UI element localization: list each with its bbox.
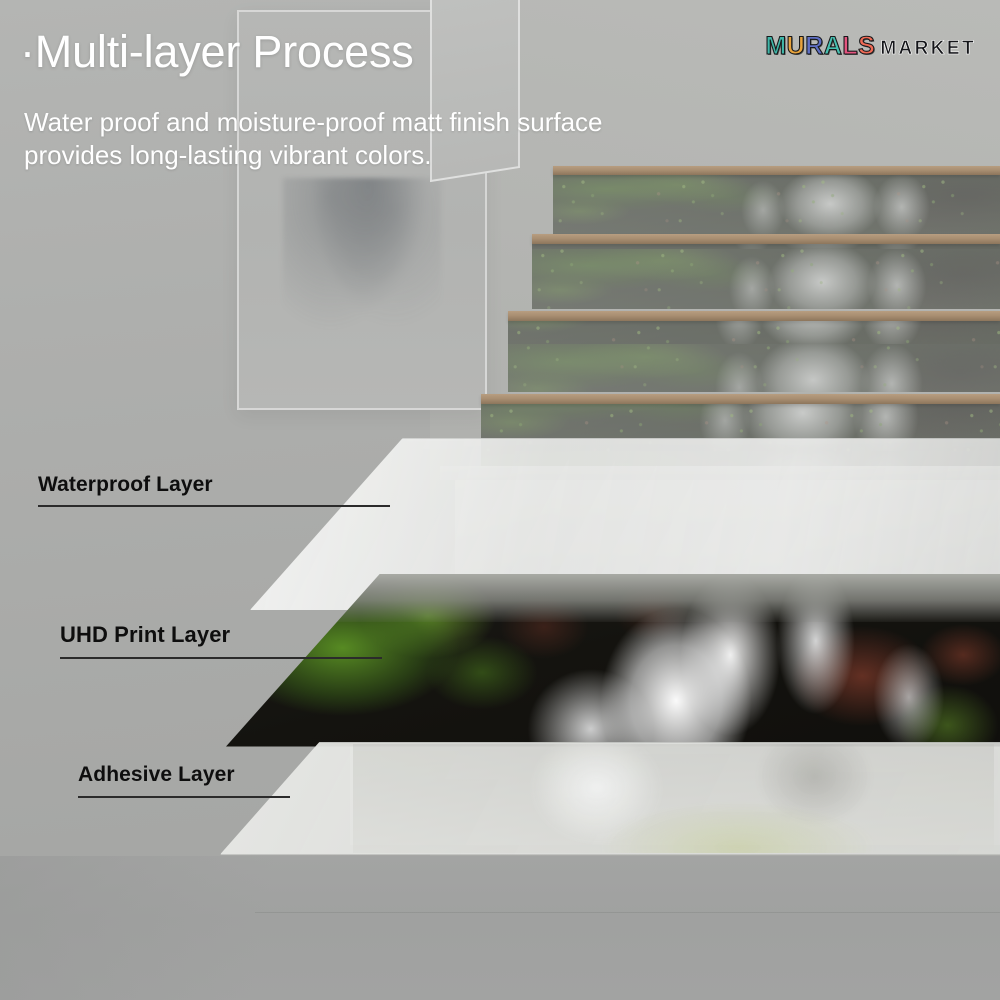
uhd-print-layer-label-rule [60,657,382,659]
stair-riser [532,243,1000,309]
page-subtitle-line-1: Water proof and moisture-proof matt fini… [24,106,603,139]
adhesive-layer-label: Adhesive Layer [78,763,290,798]
poster-canvas: Waterproof Layer UHD Print Layer Adhesiv… [0,0,1000,1000]
brand-logo-letter-r-2: R [805,32,824,61]
brand-logo-letter-m-0: M [765,32,786,61]
stair-riser [553,174,1000,234]
header: ·Multi-layer Process Water proof and moi… [0,0,1000,180]
uhd-print-layer-label-text: UHD Print Layer [60,622,382,648]
stair-riser [508,320,1000,392]
adhesive-layer-label-rule [78,796,290,798]
waterproof-layer-label-text: Waterproof Layer [38,473,390,497]
page-subtitle: Water proof and moisture-proof matt fini… [24,106,603,172]
riser-shade-overlay [553,174,1000,234]
adhesive-layer-label-text: Adhesive Layer [78,763,290,787]
brand-logo-letter-s-5: S [858,32,875,61]
riser-shade-overlay [532,243,1000,309]
stair-tread-edge [508,311,1000,321]
uhd-print-layer-label: UHD Print Layer [60,622,382,659]
riser-shade-overlay [508,320,1000,392]
waterproof-layer-label: Waterproof Layer [38,473,390,507]
stair-tread-edge [532,234,1000,244]
brand-logo-letter-u-1: U [787,32,806,61]
stair-tread-edge [481,394,1000,404]
floor-left-wedge [0,856,420,1000]
brand-logo-letter-a-3: A [824,32,843,61]
adhesive-layer-sheet[interactable] [220,742,1000,858]
waterproof-layer-label-rule [38,505,390,507]
brand-logo-market-word: MARKET [880,38,976,61]
page-title: ·Multi-layer Process [20,26,414,78]
adhesive-layer-ghost-image [353,744,994,853]
brand-logo-letter-l-4: L [842,32,858,61]
brand-logo-murals-word: MURALS [765,32,875,61]
page-subtitle-line-2: provides long-lasting vibrant colors. [24,139,603,172]
brand-logo[interactable]: MURALS MARKET [765,32,976,61]
